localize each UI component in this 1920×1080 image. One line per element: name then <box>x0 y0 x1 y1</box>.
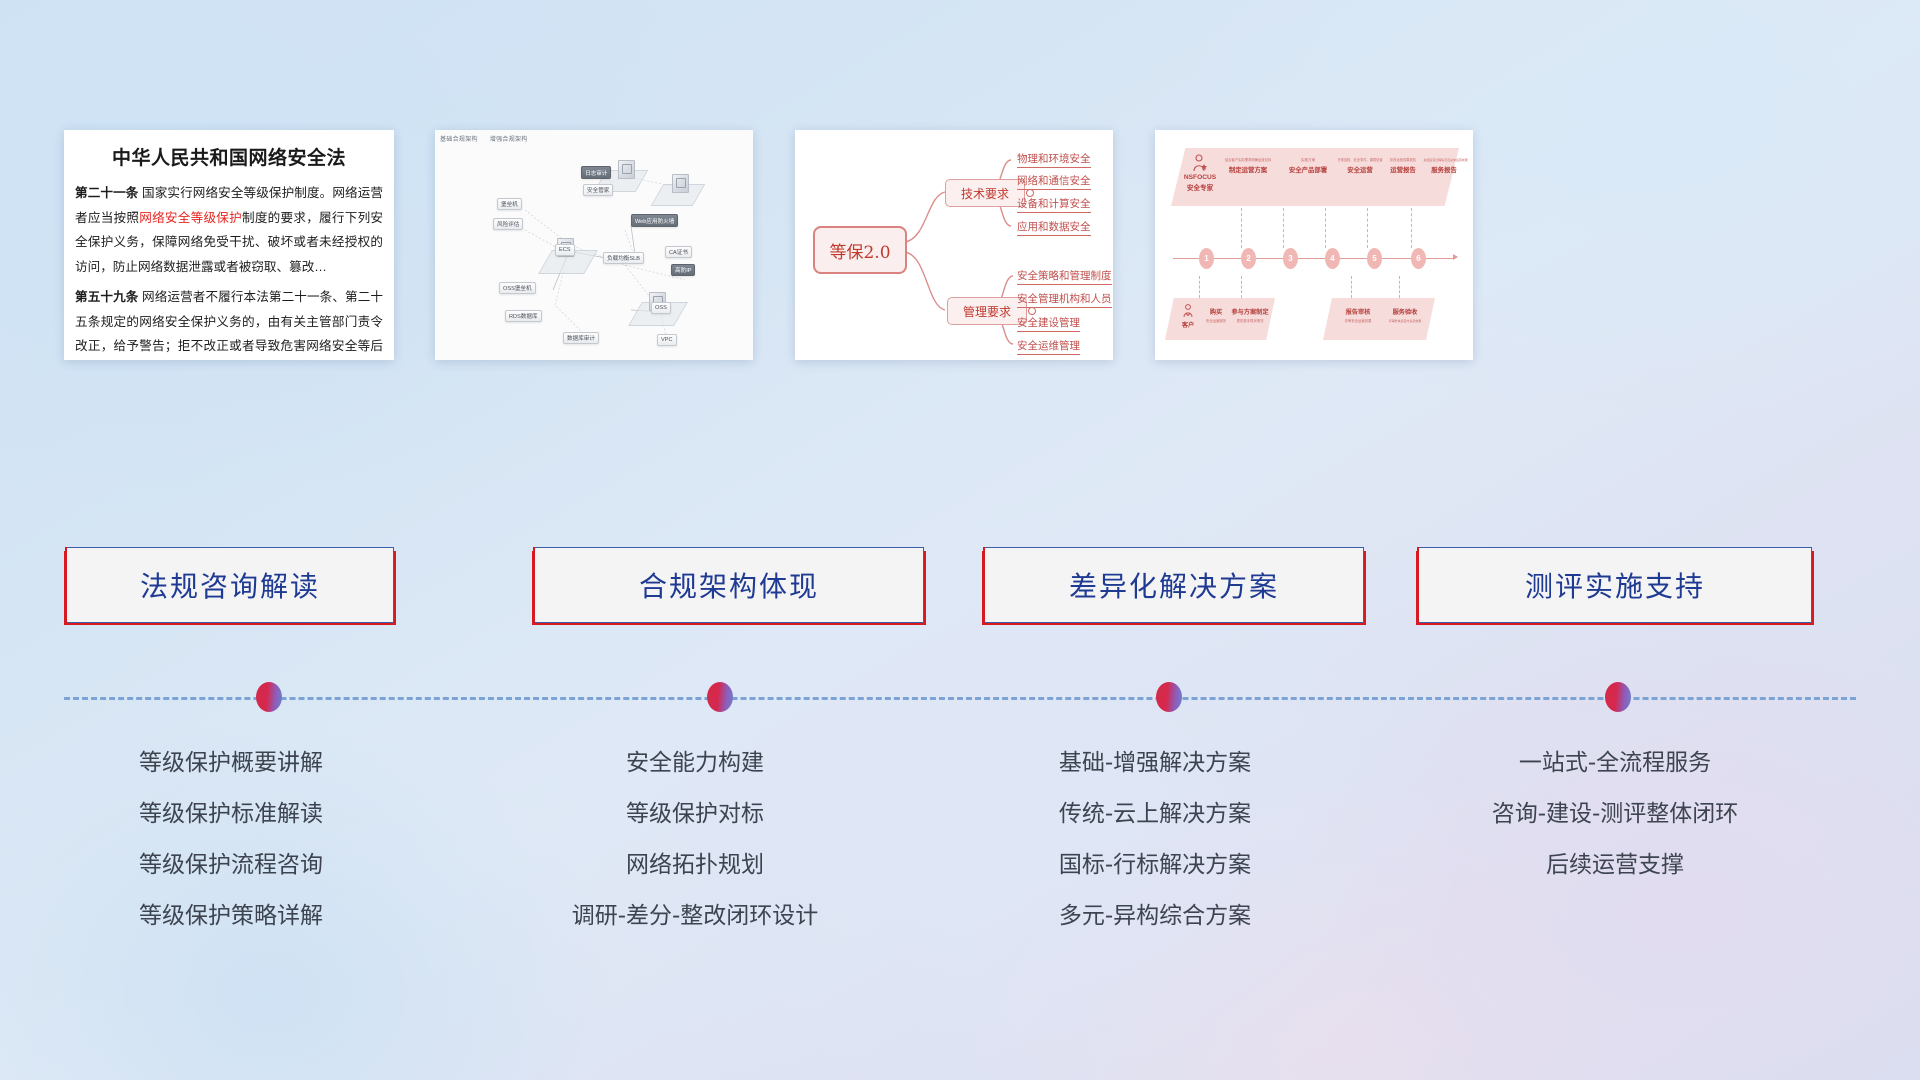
cloud-arch-node: 安全管家 <box>583 184 613 196</box>
roadmap-arrow-icon <box>1453 254 1458 260</box>
cloud-arch-node: 负载均衡SLB <box>603 252 644 264</box>
column-list-2: 安全能力构建 等级保护对标 网络拓扑规划 调研-差分-整改闭环设计 <box>545 752 845 956</box>
list-item: 等级保护标准解读 <box>86 803 376 826</box>
roadmap-expert-label-1: NSFOCUS <box>1177 174 1223 181</box>
button-assessment-support[interactable]: 测评实施支持 <box>1418 547 1812 623</box>
column-list-3: 基础-增强解决方案 传统-云上解决方案 国标-行标解决方案 多元-异构综合方案 <box>1000 752 1310 956</box>
button-label: 合规架构体现 <box>639 565 819 605</box>
list-item: 基础-增强解决方案 <box>1000 752 1310 775</box>
mindmap-leaf: 应用和数据安全 <box>1017 219 1091 236</box>
mindmap-leaf: 设备和计算安全 <box>1017 196 1091 213</box>
cloud-arch-node: OSS <box>651 302 671 314</box>
cloud-arch-node: 日志审计 <box>581 166 611 179</box>
button-label: 法规咨询解读 <box>140 565 320 605</box>
law-article-21: 第二十一条 国家实行网络安全等级保护制度。网络运营者应当按照网络安全等级保护制度… <box>75 181 383 279</box>
column-list-1: 等级保护概要讲解 等级保护标准解读 等级保护流程咨询 等级保护策略详解 <box>86 752 376 956</box>
roadmap-step-name: 安全产品部署 <box>1279 165 1337 174</box>
cloud-arch-node: VPC <box>657 334 677 346</box>
roadmap-step: 实施方案 安全产品部署 <box>1279 158 1337 174</box>
roadmap-bottom-step: 报告审核 评审安全运营效果 <box>1335 307 1381 323</box>
roadmap-step-sub: 结合客户实际需求明确运营目标 <box>1219 158 1276 162</box>
list-item: 等级保护策略详解 <box>86 905 376 928</box>
list-item: 安全能力构建 <box>545 752 845 775</box>
roadmap-step-number: 3 <box>1283 248 1298 269</box>
card-mindmap: 等保2.0 技术要求 管理要求 物理和环境安全 网络和通信安全 设备和计算安全 … <box>795 130 1113 360</box>
column-list-4: 一站式-全流程服务 咨询-建设-测评整体闭环 后续运营支撑 <box>1450 752 1780 905</box>
mindmap-collapse-dot-icon[interactable] <box>1028 307 1036 315</box>
card-cloud-architecture: 基础合规架构增强合规架构 日志审计 安全管家 堡垒机 风险评估 ECS 负载均衡… <box>435 130 753 360</box>
mindmap-branch-management: 管理要求 <box>947 297 1027 325</box>
timeline-dot-1[interactable] <box>256 682 282 712</box>
roadmap-step-number: 4 <box>1325 248 1340 269</box>
roadmap-step-number: 6 <box>1411 248 1426 269</box>
button-regulation-consulting[interactable]: 法规咨询解读 <box>66 547 394 623</box>
roadmap-step-number: 2 <box>1241 248 1256 269</box>
cloud-arch-node: 数据库审计 <box>563 332 599 344</box>
roadmap-customer-label: 客户 <box>1177 320 1199 329</box>
button-label: 测评实施支持 <box>1525 565 1705 605</box>
roadmap-bottom-tag-left: 客户 购买 安全运营服务 参与方案制定 提供基本现状情况 <box>1165 298 1275 340</box>
roadmap-expert-label-2: 安全专家 <box>1177 182 1223 192</box>
cloud-arch-connectors <box>435 130 753 360</box>
roadmap-step-sub: 总结运营过程情况及总体运营成果 <box>1424 158 1465 162</box>
mindmap-leaf: 安全运维管理 <box>1017 338 1080 355</box>
timeline-dot-3[interactable] <box>1156 682 1182 712</box>
roadmap-dash <box>1367 208 1369 248</box>
mindmap-leaf: 安全管理机构和人员 <box>1017 291 1112 308</box>
button-differentiated-solution[interactable]: 差异化解决方案 <box>984 547 1364 623</box>
roadmap-bottom-step-sub: 提供基本现状情况 <box>1227 318 1273 323</box>
mindmap-root-node: 等保2.0 <box>813 226 907 274</box>
cloud-arch-node: 风险评估 <box>493 218 523 230</box>
person-star-icon <box>1192 154 1208 172</box>
roadmap-step-sub: 实施方案 <box>1279 158 1337 162</box>
roadmap-dash <box>1283 208 1285 248</box>
roadmap-bottom-step: 参与方案制定 提供基本现状情况 <box>1227 307 1273 323</box>
cloud-arch-node: CA证书 <box>665 246 692 258</box>
law-article-59: 第五十九条 网络运营者不履行本法第二十一条、第二十五条规定的网络安全保护义务的，… <box>75 285 383 360</box>
roadmap-dash <box>1241 208 1243 248</box>
list-item: 传统-云上解决方案 <box>1000 803 1310 826</box>
cloud-arch-device-icon <box>672 174 689 193</box>
cloud-arch-node: OSS堡垒机 <box>499 282 536 294</box>
cloud-arch-node: ECS <box>555 244 575 256</box>
roadmap-bottom-step: 服务验收 评审整体运营方案及效果 <box>1381 307 1429 323</box>
roadmap-step-name: 服务报告 <box>1419 165 1469 174</box>
list-item: 后续运营支撑 <box>1450 854 1780 877</box>
roadmap-bottom-step-sub: 评审安全运营效果 <box>1335 318 1381 323</box>
roadmap-step: 总结运营过程情况及总体运营成果 服务报告 <box>1419 158 1469 174</box>
cloud-arch-node: 高防IP <box>671 264 695 276</box>
roadmap-dash <box>1411 208 1413 248</box>
roadmap-bottom-step-name: 服务验收 <box>1381 307 1429 316</box>
roadmap-bottom-step-name: 参与方案制定 <box>1227 307 1273 316</box>
roadmap-dash <box>1325 208 1327 248</box>
law-article-21-label: 第二十一条 <box>75 186 138 200</box>
list-item: 等级保护概要讲解 <box>86 752 376 775</box>
mindmap-branch-technical: 技术要求 <box>945 179 1025 207</box>
timeline-dot-4[interactable] <box>1605 682 1631 712</box>
roadmap-bottom-step-name: 报告审核 <box>1335 307 1381 316</box>
button-compliance-architecture[interactable]: 合规架构体现 <box>534 547 924 623</box>
mindmap-leaf: 安全策略和管理制度 <box>1017 268 1112 285</box>
list-item: 多元-异构综合方案 <box>1000 905 1310 928</box>
law-article-21-highlight: 网络安全等级保护 <box>139 211 242 225</box>
law-document-title: 中华人民共和国网络安全法 <box>64 143 394 170</box>
button-label: 差异化解决方案 <box>1069 565 1279 605</box>
roadmap-customer-block: 客户 <box>1177 304 1199 329</box>
customer-person-icon <box>1182 304 1194 318</box>
mindmap-leaf: 物理和环境安全 <box>1017 151 1091 168</box>
mindmap-leaf: 安全建设管理 <box>1017 315 1080 332</box>
card-law-document: 中华人民共和国网络安全法 第二十一条 国家实行网络安全等级保护制度。网络运营者应… <box>64 130 394 360</box>
list-item: 等级保护对标 <box>545 803 845 826</box>
roadmap-dash <box>1351 276 1353 298</box>
timeline-dashed-line <box>64 697 1856 700</box>
roadmap-bottom-step-sub: 评审整体运营方案及效果 <box>1384 318 1426 322</box>
list-item: 调研-差分-整改闭环设计 <box>545 905 845 928</box>
cloud-arch-node: 堡垒机 <box>497 198 522 210</box>
list-item: 国标-行标解决方案 <box>1000 854 1310 877</box>
card-service-roadmap: NSFOCUS 安全专家 结合客户实际需求明确运营目标 制定运营方案 实施方案 … <box>1155 130 1473 360</box>
roadmap-dash <box>1399 276 1401 298</box>
list-item: 网络拓扑规划 <box>545 854 845 877</box>
roadmap-dash <box>1199 276 1201 298</box>
cloud-arch-node: Web应用防火墙 <box>631 214 678 227</box>
list-item: 一站式-全流程服务 <box>1450 752 1780 775</box>
roadmap-bottom-tag-right: 报告审核 评审安全运营效果 服务验收 评审整体运营方案及效果 <box>1323 298 1435 340</box>
list-item: 等级保护流程咨询 <box>86 854 376 877</box>
law-document-body: 第二十一条 国家实行网络安全等级保护制度。网络运营者应当按照网络安全等级保护制度… <box>64 181 394 360</box>
law-article-59-label: 第五十九条 <box>75 290 138 304</box>
cloud-arch-device-icon <box>618 160 635 179</box>
roadmap-step-name: 制定运营方案 <box>1217 165 1279 174</box>
timeline-dot-2[interactable] <box>707 682 733 712</box>
cloud-arch-node: RDS数据库 <box>505 310 542 322</box>
list-item: 咨询-建设-测评整体闭环 <box>1450 803 1780 826</box>
roadmap-step-number: 1 <box>1199 248 1214 269</box>
roadmap-step-number: 5 <box>1367 248 1382 269</box>
roadmap-dash <box>1241 276 1243 298</box>
mindmap-leaf: 网络和通信安全 <box>1017 173 1091 190</box>
roadmap-step: 结合客户实际需求明确运营目标 制定运营方案 <box>1217 158 1279 174</box>
